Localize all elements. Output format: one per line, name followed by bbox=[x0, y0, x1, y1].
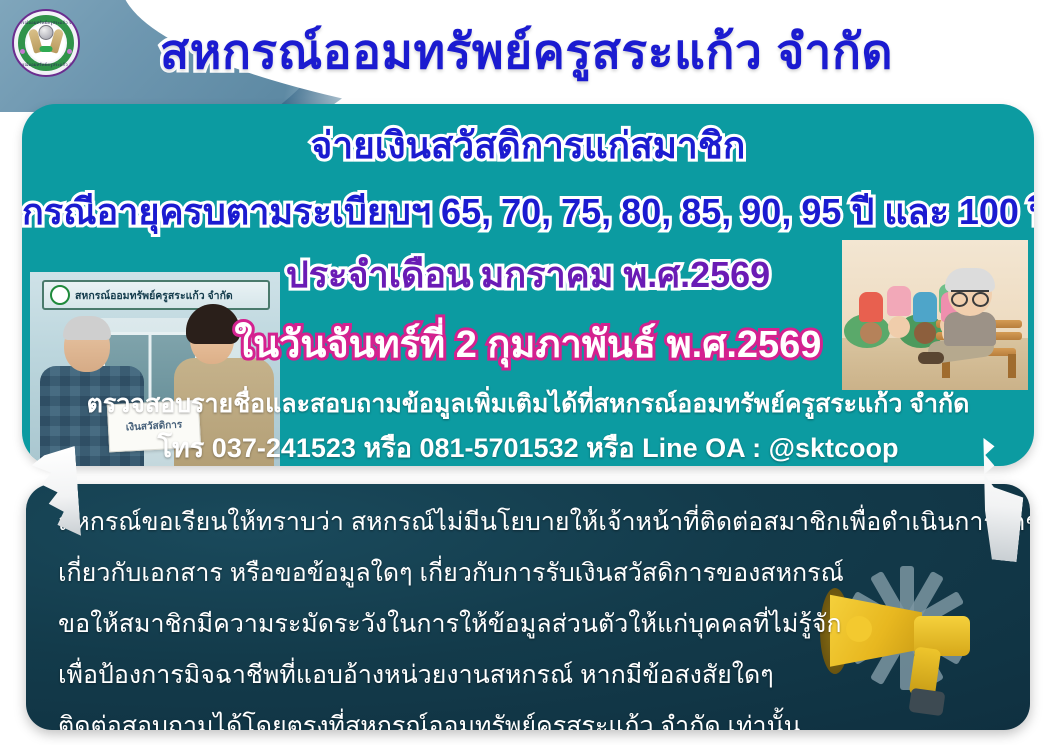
warning-notice-panel: สหกรณ์ขอเรียนให้ทราบว่า สหกรณ์ไม่มีนโยบา… bbox=[26, 484, 1030, 730]
notice-line-3: ขอให้สมาชิกมีความระมัดระวังในการให้ข้อมู… bbox=[26, 604, 1030, 644]
announcement-line-2: กรณีอายุครบตามระเบียบฯ 65, 70, 75, 80, 8… bbox=[22, 183, 1034, 240]
notice-line-4: เพื่อป้องการมิจฉาชีพที่แอบอ้างหน่วยงานสห… bbox=[26, 655, 1030, 695]
announcement-date-line: ในวันจันทร์ที่ 2 กุมภาพันธ์ พ.ศ.2569 bbox=[22, 313, 1034, 374]
announcement-line-3: ประจำเดือน มกราคม พ.ศ.2569 bbox=[22, 246, 1034, 303]
announcement-contact-line: ตรวจสอบรายชื่อและสอบถามข้อมูลเพิ่มเติมได… bbox=[22, 384, 1034, 424]
page-title: สหกรณ์ออมทรัพย์ครูสระแก้ว จำกัด bbox=[0, 14, 1053, 90]
announcement-card: จ่ายเงินสวัสดิการแก่สมาชิก กรณีอายุครบตา… bbox=[22, 104, 1034, 466]
announcement-line-1: จ่ายเงินสวัสดิการแก่สมาชิก bbox=[22, 116, 1034, 175]
poster-root: สหกรณ์ออมทรัพย์ครูสระแก้ว จำกัด สหกรณ์ออ… bbox=[0, 0, 1053, 745]
announcement-phone-line: โทร 037-241523 หรือ 081-5701532 หรือ Lin… bbox=[22, 426, 1034, 466]
notice-line-5: ติดต่อสอบถามได้โดยตรงที่สหกรณ์ออมทรัพย์ค… bbox=[26, 706, 1030, 730]
notice-line-1: สหกรณ์ขอเรียนให้ทราบว่า สหกรณ์ไม่มีนโยบา… bbox=[26, 502, 1030, 542]
notice-line-2: เกี่ยวกับเอกสาร หรือขอข้อมูลใดๆ เกี่ยวกั… bbox=[26, 553, 1030, 593]
